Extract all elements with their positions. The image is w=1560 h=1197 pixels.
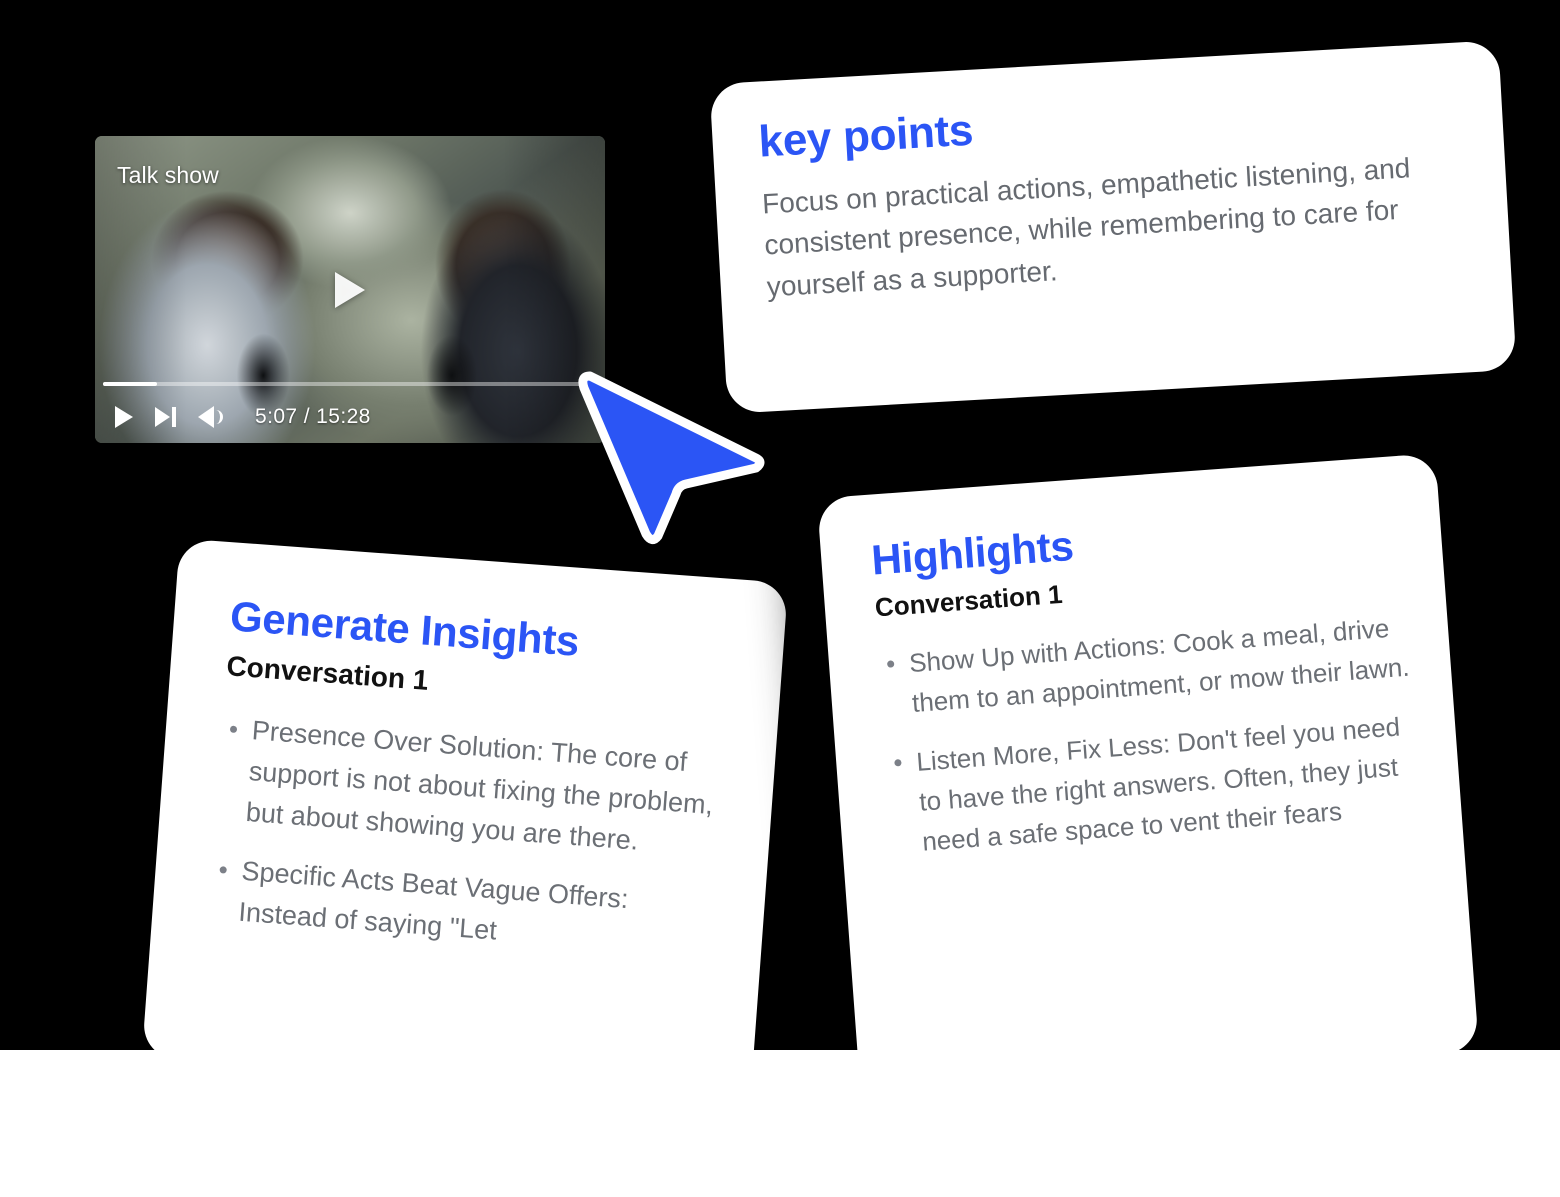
generate-insights-card[interactable]: Generate Insights Conversation 1 Presenc… — [142, 538, 788, 1050]
next-track-icon — [155, 407, 176, 427]
list-item: Show Up with Actions: Cook a meal, drive… — [878, 606, 1416, 725]
bullet-icon — [887, 660, 894, 667]
video-time-display: 5:07 / 15:28 — [255, 405, 371, 429]
video-controls-bar: 5:07 / 15:28 — [95, 391, 605, 443]
list-item-text: Presence Over Solution: The core of supp… — [245, 715, 714, 856]
key-points-body: Focus on practical actions, empathetic l… — [761, 145, 1463, 308]
volume-icon — [198, 406, 223, 428]
bullet-icon — [230, 725, 237, 732]
video-title: Talk show — [117, 162, 219, 189]
list-item-text: Specific Acts Beat Vague Offers: Instead… — [238, 856, 630, 946]
video-player[interactable]: Talk show 5:07 / — [95, 136, 605, 443]
video-progress-fill — [103, 382, 157, 386]
list-item: Specific Acts Beat Vague Offers: Instead… — [207, 849, 720, 968]
list-item-text: Listen More, Fix Less: Don't feel you ne… — [915, 711, 1401, 857]
play-overlay-icon[interactable] — [335, 272, 365, 308]
list-item: Listen More, Fix Less: Don't feel you ne… — [885, 705, 1426, 865]
volume-button[interactable] — [198, 406, 223, 428]
generate-insights-list: Presence Over Solution: The core of supp… — [207, 708, 730, 968]
key-points-card[interactable]: key points Focus on practical actions, e… — [709, 40, 1516, 414]
play-button[interactable] — [115, 406, 133, 428]
screenshot-stage: Talk show 5:07 / — [0, 0, 1560, 1197]
list-item-text: Show Up with Actions: Cook a meal, drive… — [908, 613, 1410, 718]
bullet-icon — [894, 759, 901, 766]
video-progress-bar[interactable] — [103, 382, 597, 386]
content-clip-region: Talk show 5:07 / — [0, 0, 1560, 1050]
play-icon — [115, 406, 133, 428]
bullet-icon — [219, 866, 226, 873]
next-track-button[interactable] — [155, 407, 176, 427]
highlights-list: Show Up with Actions: Cook a meal, drive… — [878, 606, 1427, 864]
list-item: Presence Over Solution: The core of supp… — [215, 708, 731, 868]
highlights-card[interactable]: Highlights Conversation 1 Show Up with A… — [817, 453, 1479, 1050]
